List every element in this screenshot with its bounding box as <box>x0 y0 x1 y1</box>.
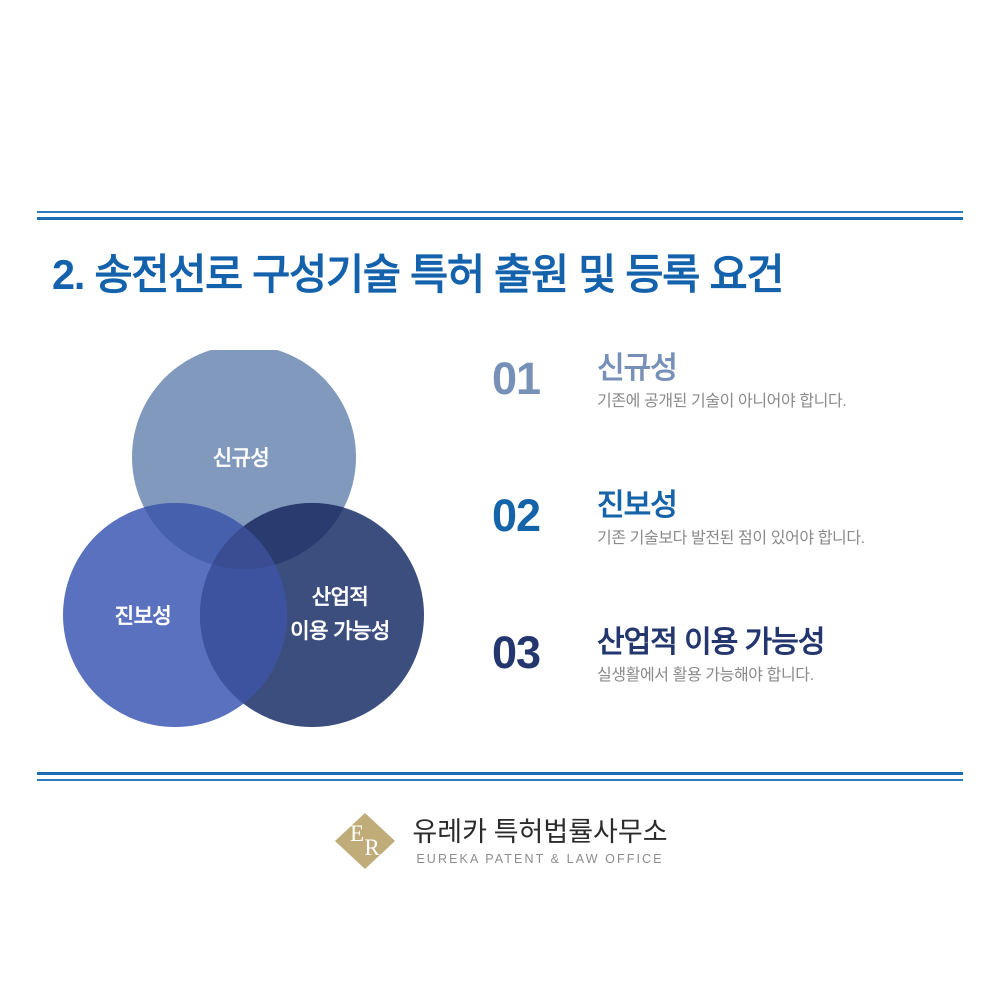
requirement-item-01: 01 신규성 기존에 공개된 기술이 아니어야 합니다. <box>492 352 962 489</box>
requirement-number-03: 03 <box>492 630 540 675</box>
requirement-body-01: 신규성 기존에 공개된 기술이 아니어야 합니다. <box>597 352 962 412</box>
slide-canvas: 2. 송전선로 구성기술 특허 출원 및 등록 요건 <box>0 0 1000 1000</box>
footer-logo: E R 유레카 특허법률사무소 EUREKA PATENT & LAW OFFI… <box>0 806 1000 876</box>
divider-bottom-thin-rule <box>37 779 963 781</box>
divider-bottom <box>37 772 963 782</box>
requirement-description-01: 기존에 공개된 기술이 아니어야 합니다. <box>597 392 962 413</box>
requirement-heading-01: 신규성 <box>597 352 962 386</box>
divider-top-thick-rule <box>37 217 963 220</box>
requirement-description-02: 기존 기술보다 발전된 점이 있어야 합니다. <box>597 529 962 550</box>
logo-monogram-r: R <box>365 835 381 860</box>
logo-company-name: 유레카 특허법률사무소 <box>412 817 667 847</box>
venn-label-inventive-step: 진보성 <box>115 605 171 628</box>
requirement-description-03: 실생활에서 활용 가능해야 합니다. <box>597 666 962 687</box>
requirement-number-01: 01 <box>492 356 540 401</box>
eureka-diamond-logo-icon: E R <box>332 810 398 872</box>
logo-text-block: 유레카 특허법률사무소 EUREKA PATENT & LAW OFFICE <box>412 815 667 866</box>
page-title: 2. 송전선로 구성기술 특허 출원 및 등록 요건 <box>52 250 939 300</box>
venn-diagram-svg: 신규성 진보성 산업적 이용 가능성 <box>55 350 445 740</box>
divider-top <box>37 211 963 221</box>
logo-monogram-e: E <box>350 821 364 846</box>
requirement-body-02: 진보성 기존 기술보다 발전된 점이 있어야 합니다. <box>597 489 962 549</box>
venn-label-novelty: 신규성 <box>213 447 269 470</box>
requirement-number-02: 02 <box>492 493 540 538</box>
logo-company-subtitle: EUREKA PATENT & LAW OFFICE <box>416 852 663 867</box>
divider-top-thin-rule <box>37 211 963 213</box>
requirement-item-03: 03 산업적 이용 가능성 실생활에서 활용 가능해야 합니다. <box>492 626 962 763</box>
venn-label-industrial-applicability-line2: 이용 가능성 <box>290 620 389 643</box>
requirements-list: 01 신규성 기존에 공개된 기술이 아니어야 합니다. 02 진보성 기존 기… <box>492 352 962 763</box>
venn-label-industrial-applicability-line1: 산업적 <box>312 586 368 609</box>
requirement-heading-02: 진보성 <box>597 489 962 523</box>
requirement-item-02: 02 진보성 기존 기술보다 발전된 점이 있어야 합니다. <box>492 489 962 626</box>
requirement-heading-03: 산업적 이용 가능성 <box>597 626 962 660</box>
divider-bottom-thick-rule <box>37 772 963 775</box>
venn-diagram: 신규성 진보성 산업적 이용 가능성 <box>55 350 445 740</box>
requirement-body-03: 산업적 이용 가능성 실생활에서 활용 가능해야 합니다. <box>597 626 962 686</box>
